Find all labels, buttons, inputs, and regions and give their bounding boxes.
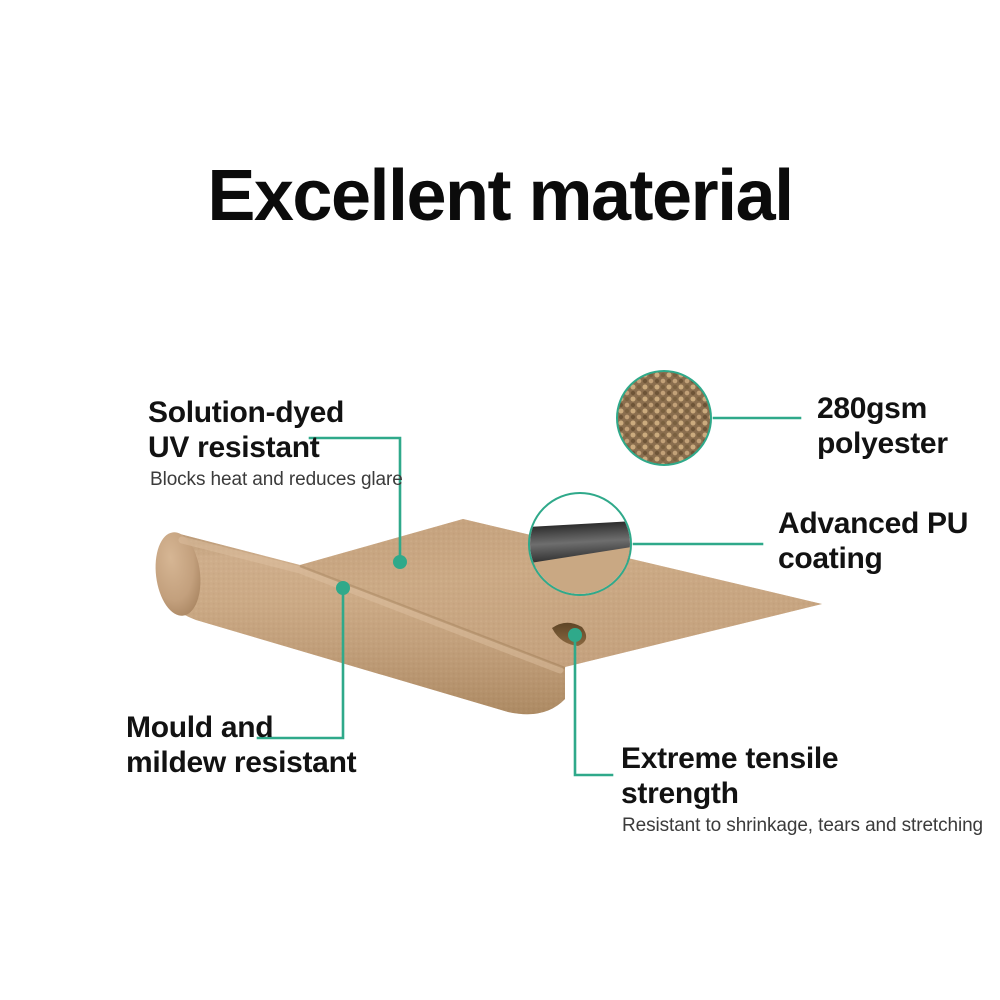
label-solution-dyed-uv-subtitle: Blocks heat and reduces glare [150, 468, 403, 492]
label-solution-dyed-uv-resistant: Solution-dyed UV resistant [148, 396, 344, 466]
label-advanced-pu-coating: Advanced PU coating [778, 507, 968, 577]
label-extreme-tensile-strength: Extreme tensile strength [621, 742, 838, 812]
label-280gsm-polyester: 280gsm polyester [817, 392, 948, 462]
label-extreme-tensile-subtitle: Resistant to shrinkage, tears and stretc… [622, 814, 983, 838]
infographic-canvas: Excellent material [0, 0, 1000, 1000]
rolled-fabric-sheet-illustration [0, 0, 1000, 1000]
weave-swatch-icon [616, 370, 712, 466]
pu-coating-icon [528, 492, 632, 596]
label-mould-mildew-resistant: Mould and mildew resistant [126, 711, 356, 781]
